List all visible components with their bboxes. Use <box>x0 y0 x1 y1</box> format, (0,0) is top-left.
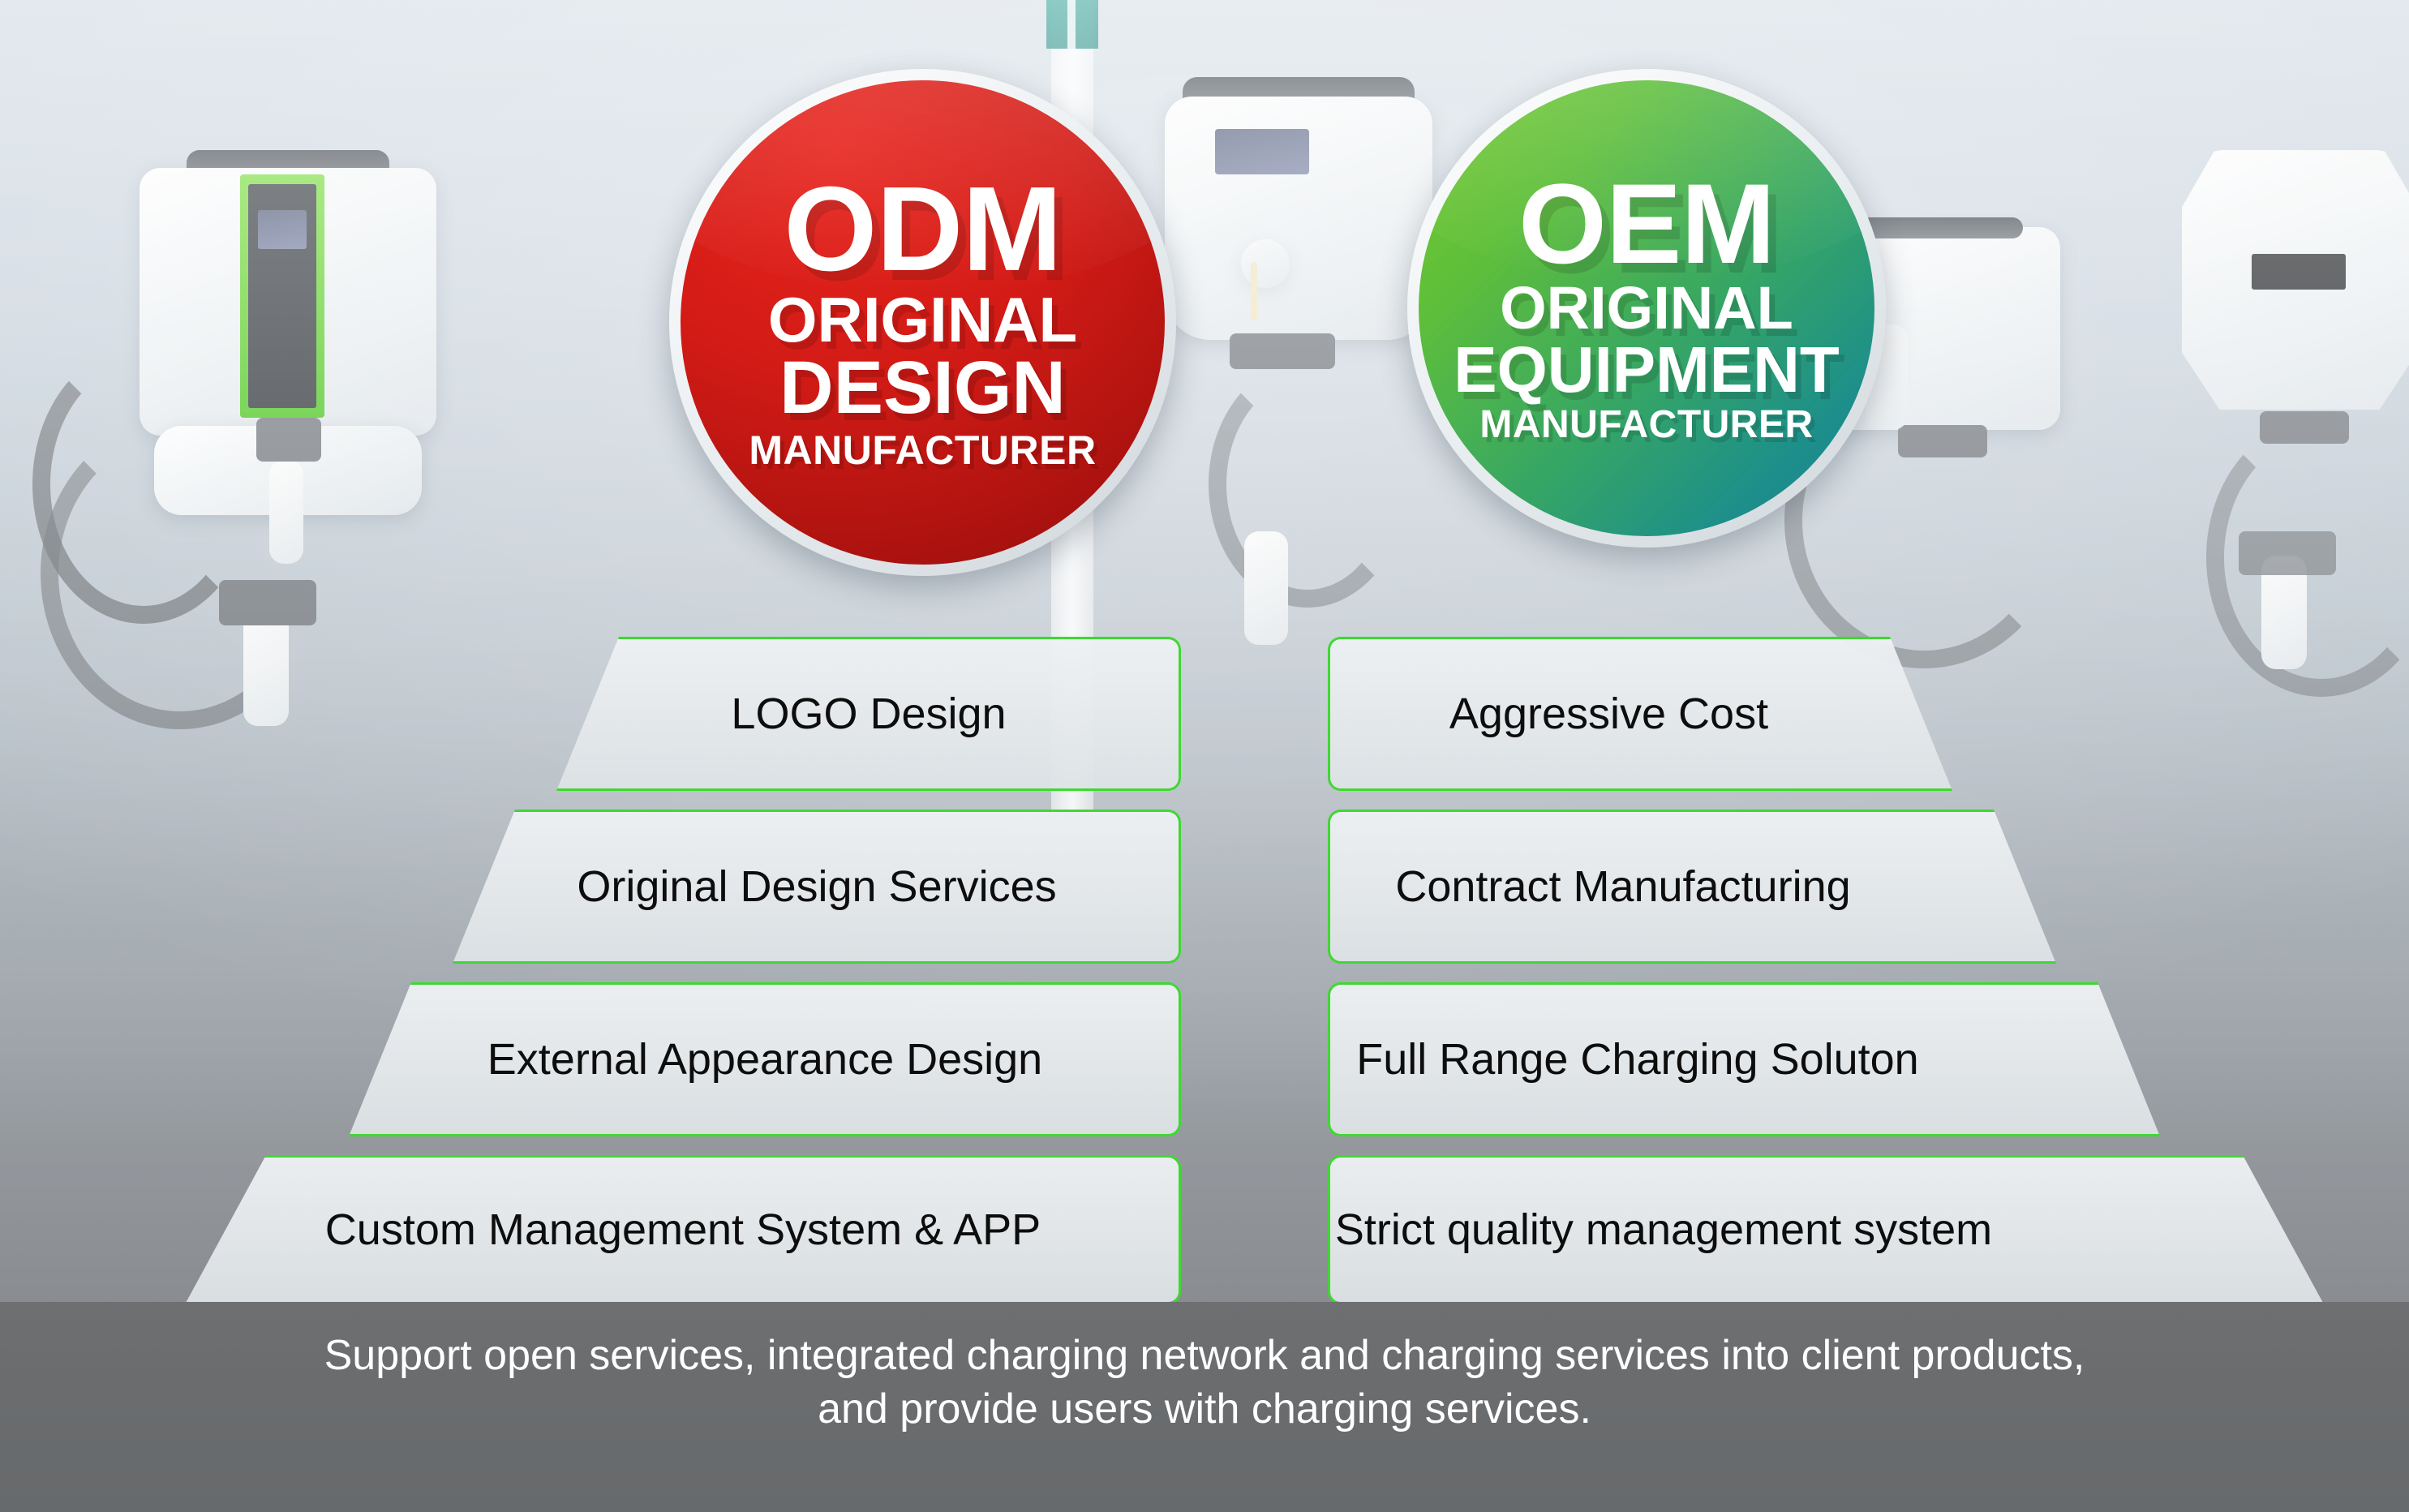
caption-text: Support open services, integrated chargi… <box>0 1329 2409 1436</box>
pyramid-right-row-2[interactable]: Contract Manufacturing <box>1328 810 2056 964</box>
pyramid-left-row-3-label: External Appearance Design <box>349 982 1181 1136</box>
pyramid-right-row-3-label: Full Range Charging Soluton <box>1328 982 2160 1136</box>
pyramid-right-row-4-label: Strict quality management system <box>1328 1155 2324 1304</box>
pyramid-left-row-4-label: Custom Management System & APP <box>185 1155 1181 1304</box>
caption-band: Support open services, integrated chargi… <box>0 1302 2409 1512</box>
pyramid-left-row-1-label: LOGO Design <box>556 637 1181 791</box>
pyramid-left-row-3[interactable]: External Appearance Design <box>349 982 1181 1136</box>
pyramid-left-row-1[interactable]: LOGO Design <box>556 637 1181 791</box>
pyramid-right-row-3[interactable]: Full Range Charging Soluton <box>1328 982 2160 1136</box>
pyramid-left-row-4[interactable]: Custom Management System & APP <box>185 1155 1181 1304</box>
pyramid-right-row-1-label: Aggressive Cost <box>1328 637 1952 791</box>
caption-line-1: Support open services, integrated chargi… <box>0 1329 2409 1383</box>
pyramid-right-row-1[interactable]: Aggressive Cost <box>1328 637 1952 791</box>
pyramid-left-row-2-label: Original Design Services <box>453 810 1181 964</box>
caption-line-2: and provide users with charging services… <box>0 1383 2409 1437</box>
pyramid-left-row-2[interactable]: Original Design Services <box>453 810 1181 964</box>
pyramid-right-row-2-label: Contract Manufacturing <box>1328 810 2056 964</box>
pyramid-right-row-4[interactable]: Strict quality management system <box>1328 1155 2324 1304</box>
